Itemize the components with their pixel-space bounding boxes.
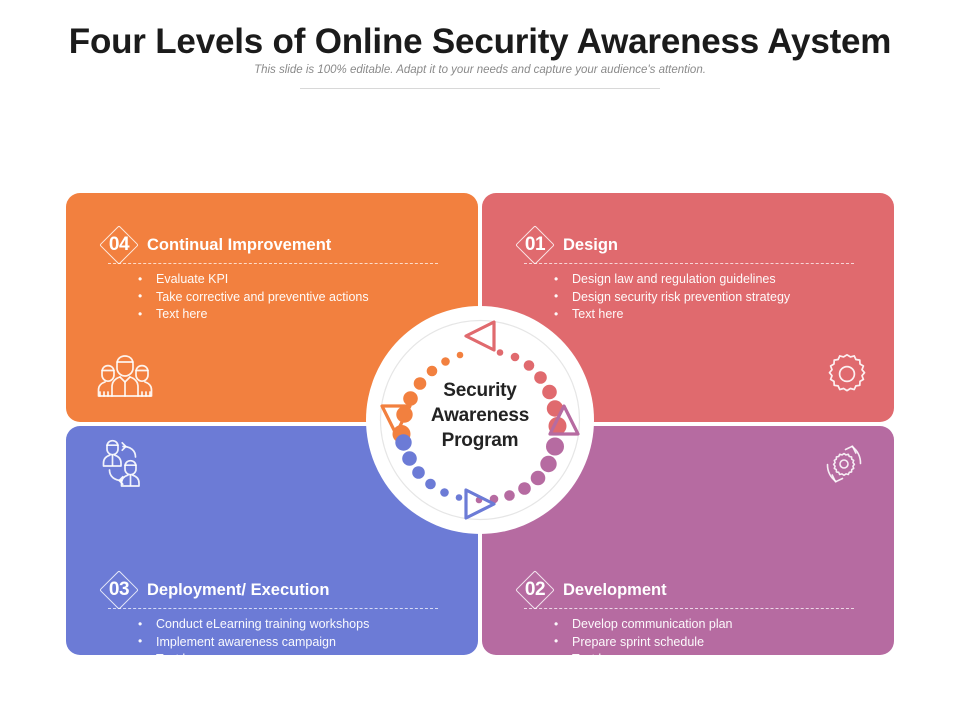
panel-header: 04 Continual Improvement xyxy=(100,226,331,264)
hub-label-line-2: Awareness xyxy=(366,403,594,428)
page-subtitle: This slide is 100% editable. Adapt it to… xyxy=(0,64,960,76)
panel-number: 04 xyxy=(100,226,138,264)
list-item: Text here xyxy=(136,651,369,655)
panel-title: Development xyxy=(563,581,667,600)
list-item: Text here xyxy=(136,306,369,324)
panel-bullet-list: Develop communication plan Prepare sprin… xyxy=(552,616,733,655)
arrow-bottom-right-pointing-icon xyxy=(466,490,494,518)
hub-label-line-1: Security xyxy=(366,378,594,403)
hub-label-line-3: Program xyxy=(366,428,594,453)
list-item: Prepare sprint schedule xyxy=(552,634,733,652)
center-hub: Security Awareness Program xyxy=(366,306,594,534)
title-divider xyxy=(300,88,660,89)
panel-title: Deployment/ Execution xyxy=(147,581,329,600)
list-item: Design security risk prevention strategy xyxy=(552,289,790,307)
panel-title: Continual Improvement xyxy=(147,236,331,255)
panel-bullet-list: Conduct eLearning training workshops Imp… xyxy=(136,616,369,655)
panel-dashed-divider xyxy=(108,608,438,609)
panel-number: 01 xyxy=(516,226,554,264)
slide-canvas: Four Levels of Online Security Awareness… xyxy=(0,0,960,720)
list-item: Implement awareness campaign xyxy=(136,634,369,652)
list-item: Develop communication plan xyxy=(552,616,733,634)
number-badge: 01 xyxy=(516,226,554,264)
gear-cycle-icon xyxy=(818,438,870,495)
panel-header: 03 Deployment/ Execution xyxy=(100,571,329,609)
panel-dashed-divider xyxy=(108,263,438,264)
arrow-top-left-pointing-icon xyxy=(466,322,494,350)
panel-bullet-list: Evaluate KPI Take corrective and prevent… xyxy=(136,271,369,324)
panel-title: Design xyxy=(563,236,618,255)
people-exchange-icon xyxy=(94,438,152,495)
list-item: Evaluate KPI xyxy=(136,271,369,289)
list-item: Conduct eLearning training workshops xyxy=(136,616,369,634)
gear-icon xyxy=(824,351,870,402)
number-badge: 04 xyxy=(100,226,138,264)
panel-dashed-divider xyxy=(524,608,854,609)
panel-number: 02 xyxy=(516,571,554,609)
number-badge: 02 xyxy=(516,571,554,609)
list-item: Text here xyxy=(552,651,733,655)
list-item: Design law and regulation guidelines xyxy=(552,271,790,289)
page-title: Four Levels of Online Security Awareness… xyxy=(0,22,960,62)
panel-header: 01 Design xyxy=(516,226,618,264)
group-people-icon xyxy=(94,351,156,404)
list-item: Take corrective and preventive actions xyxy=(136,289,369,307)
number-badge: 03 xyxy=(100,571,138,609)
panel-header: 02 Development xyxy=(516,571,667,609)
panel-number: 03 xyxy=(100,571,138,609)
panel-dashed-divider xyxy=(524,263,854,264)
hub-label: Security Awareness Program xyxy=(366,378,594,453)
